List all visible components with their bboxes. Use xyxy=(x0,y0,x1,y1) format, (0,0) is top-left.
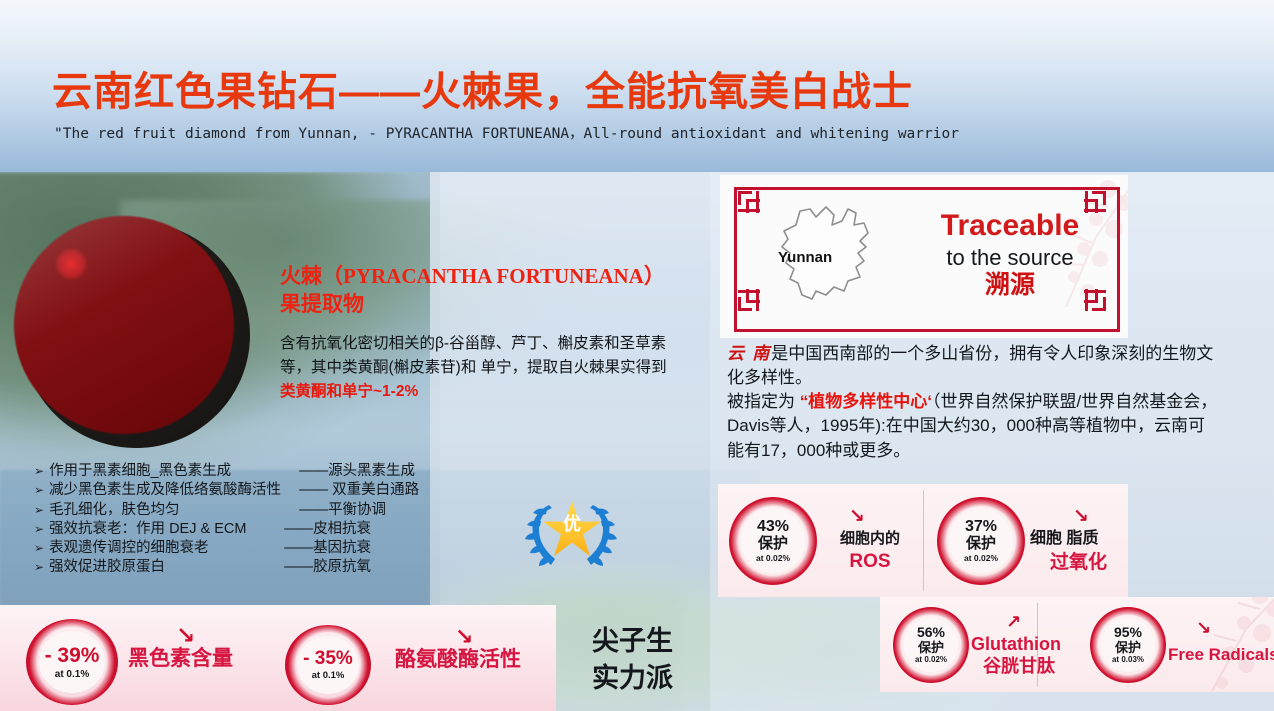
stat-badge-ros: 43% 保护 at 0.02% xyxy=(729,497,817,585)
berry-photo xyxy=(14,216,250,448)
traceability-card: Yunnan Traceable to the source 溯源 xyxy=(720,175,1128,338)
map-label-yunnan: Yunnan xyxy=(778,249,832,266)
stat-badge-melanin: - 39% at 0.1% xyxy=(26,619,118,705)
list-item: ➢ 毛孔细化，肤色均匀 ——平衡协调 xyxy=(34,501,514,520)
panel-divider xyxy=(923,490,924,591)
stat-percent: 37% xyxy=(965,518,997,536)
stat-ring-content: - 39% at 0.1% xyxy=(26,619,118,705)
yunnan-description-seg1: 是中国西南部的一个多山省份，拥有令人印象深刻的生物文化多样性。 xyxy=(727,344,1213,387)
list-item: ➢ 减少黑色素生成及降低络氨酸酶活性 —— 双重美白通路 xyxy=(34,481,514,500)
stat-badge-free-radicals: 95% 保护 at 0.03% xyxy=(1090,607,1166,683)
stat-condition: at 0.02% xyxy=(964,554,998,564)
bullet-arrow-icon: ➢ xyxy=(34,522,44,538)
plant-diversity-center-quote: “植物多样性中心‘ xyxy=(800,392,932,411)
down-arrow-icon: ↘ xyxy=(176,622,195,649)
stat-sublabel: 保护 xyxy=(1115,641,1141,656)
stat-label-glutathione-cn: 谷胱甘肽 xyxy=(983,656,1055,677)
list-item-note: ——平衡协调 xyxy=(299,501,386,520)
slogan-line-1: 尖子生 xyxy=(592,623,673,660)
list-item-label: 减少黑色素生成及降低络氨酸酶活性 xyxy=(49,481,299,500)
list-item-note: ——源头黑素生成 xyxy=(299,462,415,481)
traceable-subheading: to the source xyxy=(910,247,1110,269)
stat-label-lipid-line2: 过氧化 xyxy=(1050,552,1107,574)
stat-condition: at 0.1% xyxy=(55,669,89,680)
stat-percent: 43% xyxy=(757,518,789,536)
stat-percent: 95% xyxy=(1114,625,1142,641)
stat-condition: at 0.1% xyxy=(312,671,345,682)
stat-ring: - 39% at 0.1% xyxy=(26,619,118,705)
list-item-label: 强效抗衰老：作用 DEJ & ECM xyxy=(49,520,284,539)
bullet-arrow-icon: ➢ xyxy=(34,503,44,519)
list-item-label: 表观遗传调控的细胞衰老 xyxy=(49,539,284,558)
down-arrow-icon: ↘ xyxy=(455,624,473,650)
stat-ring: 43% 保护 at 0.02% xyxy=(729,497,817,585)
list-item-note: ——基因抗衰 xyxy=(284,539,371,558)
extract-description-text: 含有抗氧化密切相关的β-谷甾醇、芦丁、槲皮素和圣草素等，其中类黄酮(槲皮素苷)和… xyxy=(280,335,667,376)
stat-condition: at 0.02% xyxy=(756,554,790,564)
stat-label-glutathione-en: Glutathion xyxy=(971,634,1061,655)
stat-ring-content: 37% 保护 at 0.02% xyxy=(937,497,1025,585)
page-title: 云南红色果钻石——火棘果，全能抗氧美白战士 xyxy=(52,72,913,112)
stat-badge-lipid-peroxidation: 37% 保护 at 0.02% xyxy=(937,497,1025,585)
down-arrow-icon: ↘ xyxy=(1196,618,1211,639)
stat-ring-content: 43% 保护 at 0.02% xyxy=(729,497,817,585)
stat-condition: at 0.02% xyxy=(915,656,947,665)
stat-sublabel: 保护 xyxy=(918,641,944,656)
list-item-note: ——胶原抗氧 xyxy=(284,558,371,577)
stat-ring-content: 95% 保护 at 0.03% xyxy=(1090,607,1166,683)
stat-ring: - 35% at 0.1% xyxy=(285,625,371,705)
stat-label-tyrosinase: 酪氨酸酶活性 xyxy=(395,648,521,673)
stat-percent: 56% xyxy=(917,625,945,641)
up-arrow-icon: ↗ xyxy=(1006,612,1021,633)
list-item-note: ——皮相抗衰 xyxy=(284,520,371,539)
header-band: 云南红色果钻石——火棘果，全能抗氧美白战士 "The red fruit dia… xyxy=(0,0,1274,172)
stat-sublabel: 保护 xyxy=(758,536,788,553)
yunnan-description-seg2: 被指定为 xyxy=(727,392,800,411)
slogan-line-2: 实力派 xyxy=(592,660,673,697)
list-item: ➢ 作用于黑素细胞_黑色素生成 ——源头黑素生成 xyxy=(34,462,514,481)
extract-description-highlight: 类黄酮和单宁~1-2% xyxy=(280,383,418,400)
yunnan-description: 云 南是中国西南部的一个多山省份，拥有令人印象深刻的生物文化多样性。 被指定为 … xyxy=(727,342,1219,463)
slogan-text: 尖子生 实力派 xyxy=(592,623,673,698)
stat-ring: 37% 保护 at 0.02% xyxy=(937,497,1025,585)
stat-label-ros-line1: 细胞内的 xyxy=(825,530,915,548)
list-item: ➢ 表观遗传调控的细胞衰老 ——基因抗衰 xyxy=(34,539,514,558)
page-subtitle: "The red fruit diamond from Yunnan, - PY… xyxy=(54,122,959,143)
list-item-label: 强效促进胶原蛋白 xyxy=(49,558,284,577)
stat-label-ros-line2: ROS xyxy=(825,551,915,573)
list-item: ➢ 强效促进胶原蛋白 ——胶原抗氧 xyxy=(34,558,514,577)
down-arrow-icon: ↘ xyxy=(849,505,865,528)
bullet-arrow-icon: ➢ xyxy=(34,560,44,576)
extract-headline: 火棘（PYRACANTHA FORTUNEANA）果提取物 xyxy=(280,262,680,319)
stat-ring-content: 56% 保护 at 0.02% xyxy=(893,607,969,683)
stat-ring-content: - 35% at 0.1% xyxy=(285,625,371,705)
stat-sublabel: 保护 xyxy=(966,536,996,553)
list-item-label: 作用于黑素细胞_黑色素生成 xyxy=(49,462,299,481)
yunnan-keyword: 云 南 xyxy=(727,344,771,363)
stat-badge-glutathione: 56% 保护 at 0.02% xyxy=(893,607,969,683)
list-item-note: —— 双重美白通路 xyxy=(299,481,419,500)
stat-ring: 56% 保护 at 0.02% xyxy=(893,607,969,683)
stat-percent: - 35% xyxy=(303,648,353,669)
berry-photo-gloss xyxy=(14,216,234,434)
list-item-label: 毛孔细化，肤色均匀 xyxy=(49,501,299,520)
award-badge: 优 xyxy=(519,495,623,585)
bullet-arrow-icon: ➢ xyxy=(34,464,44,480)
bullet-arrow-icon: ➢ xyxy=(34,483,44,499)
stat-label-free-radicals: Free Radicals xyxy=(1168,645,1274,665)
extract-description: 含有抗氧化密切相关的β-谷甾醇、芦丁、槲皮素和圣草素等，其中类黄酮(槲皮素苷)和… xyxy=(280,332,670,404)
stat-label-melanin: 黑色素含量 xyxy=(128,647,233,672)
down-arrow-icon: ↘ xyxy=(1073,505,1089,528)
stat-percent: - 39% xyxy=(45,644,100,668)
bullet-arrow-icon: ➢ xyxy=(34,541,44,557)
list-item: ➢ 强效抗衰老：作用 DEJ & ECM ——皮相抗衰 xyxy=(34,520,514,539)
stat-condition: at 0.03% xyxy=(1112,656,1144,665)
stat-badge-tyrosinase: - 35% at 0.1% xyxy=(285,625,371,705)
slide-root: 云南红色果钻石——火棘果，全能抗氧美白战士 "The red fruit dia… xyxy=(0,0,1274,711)
traceable-heading: Traceable xyxy=(910,211,1110,241)
traceable-heading-cn: 溯源 xyxy=(910,273,1110,298)
benefit-list: ➢ 作用于黑素细胞_黑色素生成 ——源头黑素生成 ➢ 减少黑色素生成及降低络氨酸… xyxy=(34,462,514,578)
award-star-label: 优 xyxy=(543,515,601,533)
stat-label-lipid-line1: 细胞 脂质 xyxy=(1030,530,1098,549)
stat-ring: 95% 保护 at 0.03% xyxy=(1090,607,1166,683)
